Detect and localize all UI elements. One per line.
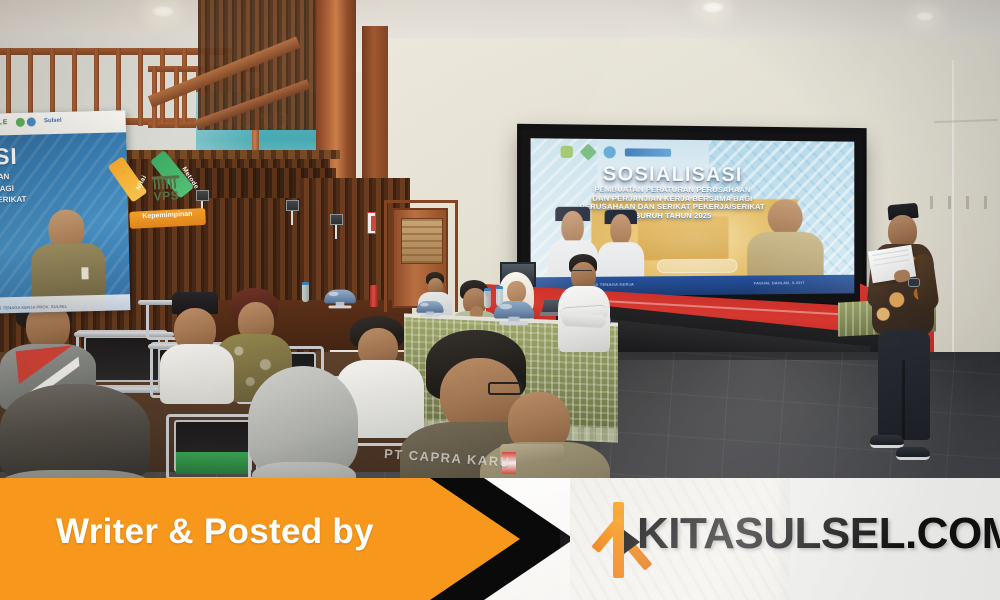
sulsel-logo-text: Sulsel — [44, 118, 62, 124]
leaf-logo-icon — [604, 146, 616, 158]
screenshot-root: UND — [0, 0, 1000, 600]
site-name-text: KITASULSEL.COM — [637, 509, 1000, 559]
sulsel-logo-icon — [16, 117, 36, 126]
fire-extinguisher-icon — [370, 285, 378, 307]
partner-logo-icon — [625, 148, 671, 156]
torso — [160, 344, 234, 404]
water-bottle — [496, 286, 503, 306]
face — [507, 281, 526, 303]
wall-light-icon — [286, 200, 299, 211]
poster-header-logos: VALE Sulsel — [0, 110, 126, 136]
slide-subtitle-line-1: PEMBUATAN PERATURAN PERUSAHAAN — [544, 186, 798, 195]
food-cloche — [324, 290, 356, 309]
hair — [0, 384, 150, 480]
door-glass-panel — [401, 218, 443, 264]
vale-logo-text: VALE — [0, 119, 8, 126]
vps-center-text: VPS — [146, 188, 187, 204]
downlight-icon — [150, 6, 176, 18]
vps-triangle-logo: Nilai Metode Kepemimpinan VPS — [120, 146, 210, 230]
water-bottle — [302, 282, 309, 302]
slide-date-pill — [657, 259, 738, 273]
downlight-icon — [915, 12, 935, 22]
person-speaker — [866, 204, 954, 466]
shoe — [870, 435, 904, 448]
left-poster-banner: VALE Sulsel LISASI AN PERUSAHAAN JA BERS… — [0, 110, 130, 314]
chair-seat[interactable] — [176, 452, 250, 474]
water-bottle — [484, 288, 491, 308]
shoe — [896, 447, 930, 460]
cloche-base — [499, 321, 528, 325]
poster-title-block: LISASI AN PERUSAHAAN JA BERSAMA BAGI AT … — [0, 140, 130, 218]
food-cloche — [416, 301, 443, 317]
fire-extinguisher-sign-icon — [367, 212, 376, 234]
slide-title: SOSIALISASI — [544, 164, 798, 186]
wall-light-icon — [330, 214, 343, 225]
portrait-badge — [81, 267, 88, 279]
hijab — [248, 366, 358, 476]
banner-credit-text: Writer & Posted by — [56, 512, 374, 552]
slide-header-logos — [561, 144, 751, 161]
portrait-head — [561, 211, 584, 243]
crossed-arm — [562, 313, 607, 328]
emblem-logo-icon — [561, 145, 573, 157]
person-audience-cap-man — [160, 292, 234, 402]
watermark-banner: Writer & Posted by KITASULSEL.COM — [0, 478, 1000, 600]
downlight-icon — [700, 2, 726, 14]
portrait-head — [610, 214, 631, 245]
person-moderator — [556, 254, 612, 350]
portrait-head — [768, 199, 803, 235]
wood-slat-panel-upper — [198, 0, 322, 130]
slide-footer-right: FASHAL DAHLAN, S.SHT — [754, 280, 805, 285]
glasses-icon — [570, 270, 592, 275]
cloche-base — [328, 305, 351, 308]
vps-center: VPS — [146, 177, 188, 209]
trousers — [878, 330, 930, 440]
batik-logo-icon — [580, 143, 597, 160]
person-audience-hijab — [248, 366, 358, 496]
wristwatch-icon — [908, 278, 920, 287]
